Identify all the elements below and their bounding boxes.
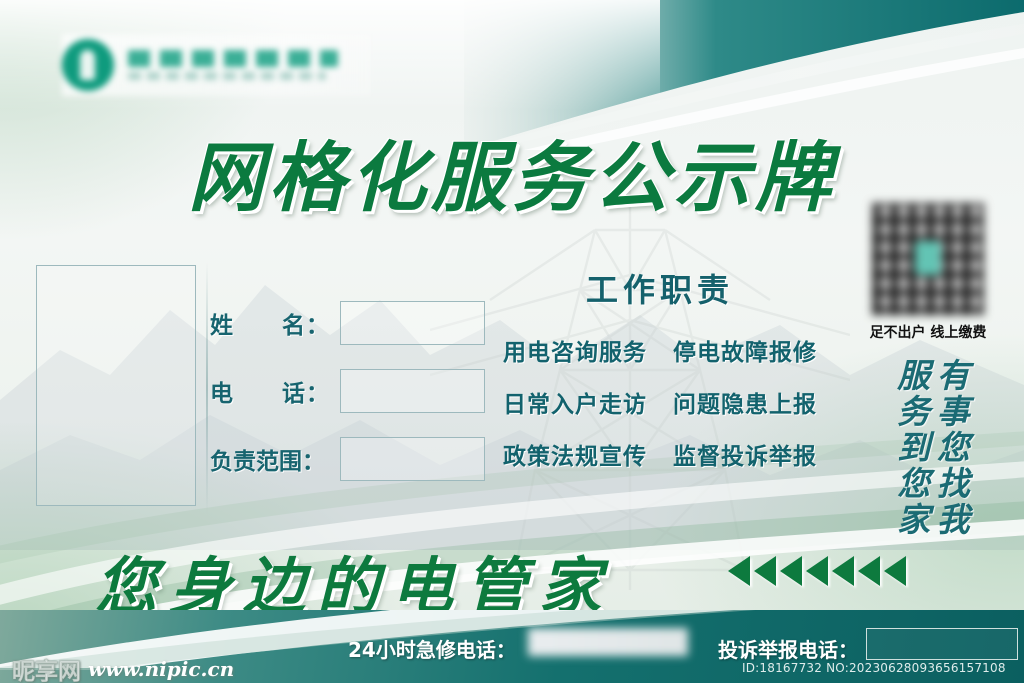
- poster-canvas: 网格化服务公示牌 姓 名： 电 话： 负责范围： 工作职责 用电咨询服务 停电故…: [0, 0, 1024, 683]
- company-logo-mark: [62, 39, 114, 91]
- photo-placeholder[interactable]: [36, 265, 196, 506]
- staff-info-form: 姓 名： 电 话： 负责范围：: [210, 300, 485, 504]
- chevron-left-icon: [728, 556, 750, 586]
- duty-row: 用电咨询服务 停电故障报修: [470, 333, 850, 367]
- form-row-name: 姓 名：: [210, 300, 485, 346]
- duty-item: 用电咨询服务: [503, 333, 647, 367]
- value-complaint-phone[interactable]: [866, 628, 1018, 660]
- label-repair-phone: 24小时急修电话：: [348, 634, 516, 663]
- site-watermark: 昵享网 www.nipic.cn: [12, 652, 234, 683]
- qr-code-icon[interactable]: [872, 203, 984, 315]
- chevron-left-icon-group: [728, 556, 906, 586]
- value-repair-phone[interactable]: [528, 628, 688, 656]
- company-logo-text-redacted: [128, 50, 338, 80]
- duties-title: 工作职责: [470, 265, 850, 311]
- input-phone[interactable]: [340, 369, 485, 413]
- input-name[interactable]: [340, 301, 485, 345]
- vertical-slogan-group: 服务到您家 有事您找我: [893, 358, 968, 538]
- chevron-left-icon: [780, 556, 802, 586]
- duty-item: 问题隐患上报: [673, 385, 817, 419]
- form-row-phone: 电 话：: [210, 368, 485, 414]
- section-divider: [206, 262, 208, 514]
- chevron-left-icon: [832, 556, 854, 586]
- duty-item: 日常入户走访: [503, 385, 647, 419]
- input-scope[interactable]: [340, 437, 485, 481]
- form-row-scope: 负责范围：: [210, 436, 485, 482]
- duty-item: 停电故障报修: [673, 333, 817, 367]
- company-logo: [62, 34, 372, 96]
- qr-caption: 足不出户 线上缴费: [862, 322, 994, 342]
- watermark-site-name: 昵享网: [12, 652, 81, 683]
- duty-row: 日常入户走访 问题隐患上报: [470, 385, 850, 419]
- duty-item: 监督投诉举报: [673, 437, 817, 471]
- qr-code-block: 足不出户 线上缴费: [862, 203, 994, 342]
- chevron-left-icon: [806, 556, 828, 586]
- image-id-line: ID:18167732 NO:20230628093656157108: [742, 661, 1006, 675]
- label-scope: 负责范围：: [210, 442, 340, 476]
- label-complaint-phone: 投诉举报电话：: [718, 634, 858, 663]
- duty-row: 政策法规宣传 监督投诉举报: [470, 437, 850, 471]
- label-name: 姓 名：: [210, 306, 340, 340]
- duty-item: 政策法规宣传: [503, 437, 647, 471]
- label-phone: 电 话：: [210, 374, 340, 408]
- chevron-left-icon: [754, 556, 776, 586]
- vertical-slogan-left: 服务到您家: [893, 358, 929, 538]
- chevron-left-icon: [858, 556, 880, 586]
- watermark-site-url: www.nipic.cn: [88, 657, 234, 681]
- vertical-slogan-right: 有事您找我: [933, 358, 969, 538]
- chevron-left-icon: [884, 556, 906, 586]
- duties-section: 工作职责 用电咨询服务 停电故障报修 日常入户走访 问题隐患上报 政策法规宣传 …: [470, 265, 850, 489]
